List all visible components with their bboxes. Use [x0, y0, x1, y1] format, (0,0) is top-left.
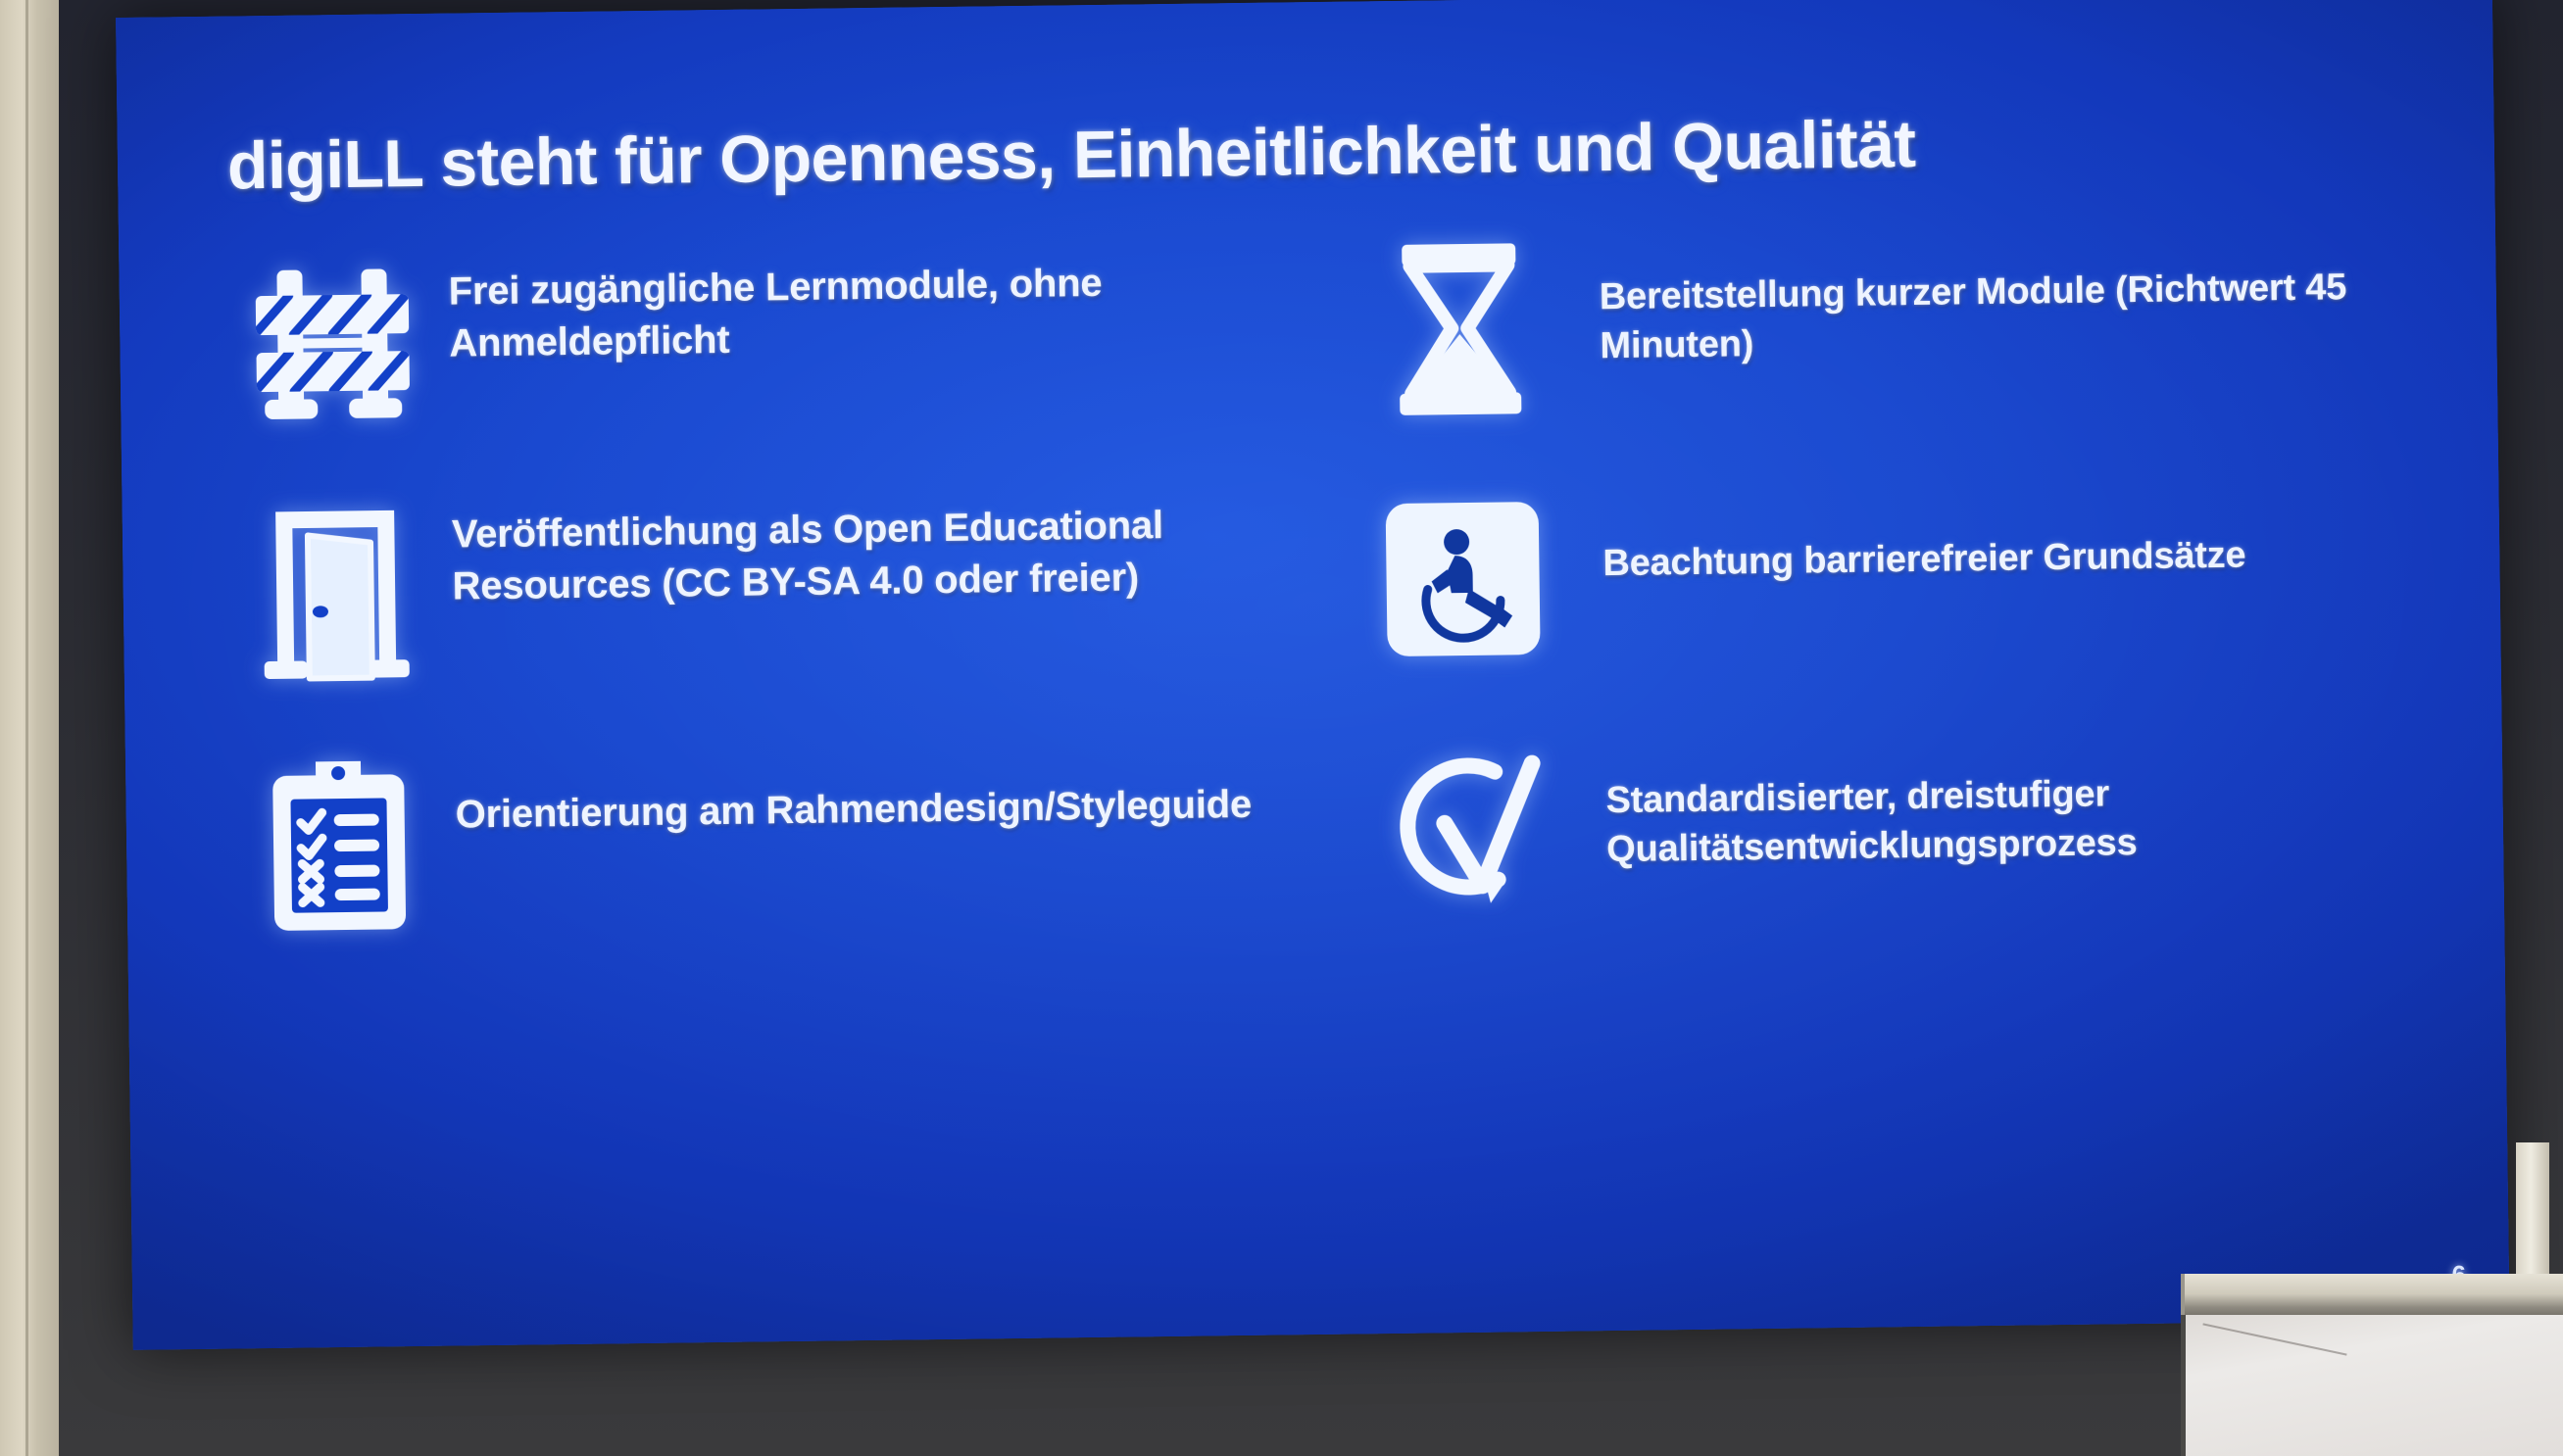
clipboard-checklist-icon [235, 751, 443, 940]
cycle-checkmark-icon [1362, 736, 1570, 925]
hourglass-icon [1355, 234, 1563, 423]
flipchart-post [2516, 1142, 2549, 1280]
bullet-item-text: Bereitstellung kurzer Module (Richtwert … [1561, 222, 2416, 371]
wall-left-panel [0, 0, 59, 1456]
bullet-grid: Frei zugängliche Lernmodule, ohne Anmeld… [228, 222, 2424, 1003]
bullet-item-bereitstellung-kurzer-module: Bereitstellung kurzer Module (Richtwert … [1355, 222, 2417, 487]
flipchart-paper [2181, 1315, 2563, 1456]
bullet-item-rahmendesign-styleguide: Orientierung am Rahmendesign/Styleguide [235, 739, 1297, 1003]
flipchart-board [2181, 1260, 2563, 1456]
flipchart-tray [2181, 1274, 2563, 1319]
bullet-item-frei-zugaengliche-lernmodule: Frei zugängliche Lernmodule, ohne Anmeld… [228, 237, 1290, 502]
road-barrier-icon [228, 249, 436, 438]
bullet-item-qualitaetsentwicklungsprozess: Standardisierter, dreistufiger Qualitäts… [1362, 724, 2424, 989]
bullet-item-text: Frei zugängliche Lernmodule, ohne Anmeld… [434, 237, 1289, 369]
bullet-item-text: Beachtung barrierefreier Grundsätze [1564, 473, 2418, 589]
bullet-item-text: Standardisierter, dreistufiger Qualitäts… [1568, 724, 2423, 875]
presentation-slide: digiLL steht für Openness, Einheitlichke… [116, 0, 2510, 1350]
wheelchair-accessibility-icon [1358, 485, 1566, 674]
bullet-item-text: Veröffentlichung als Open Educational Re… [437, 488, 1291, 612]
bullet-item-text: Orientierung am Rahmendesign/Styleguide [441, 739, 1295, 841]
bullet-item-barrierefreiheit: Beachtung barrierefreier Grundsätze [1358, 473, 2420, 738]
bullet-item-veroeffentlichung-oer: Veröffentlichung als Open Educational Re… [231, 488, 1293, 752]
open-door-icon [231, 500, 439, 689]
slide-title: digiLL steht für Openness, Einheitlichke… [227, 104, 2365, 202]
room-scene: digiLL steht für Openness, Einheitlichke… [0, 0, 2563, 1456]
